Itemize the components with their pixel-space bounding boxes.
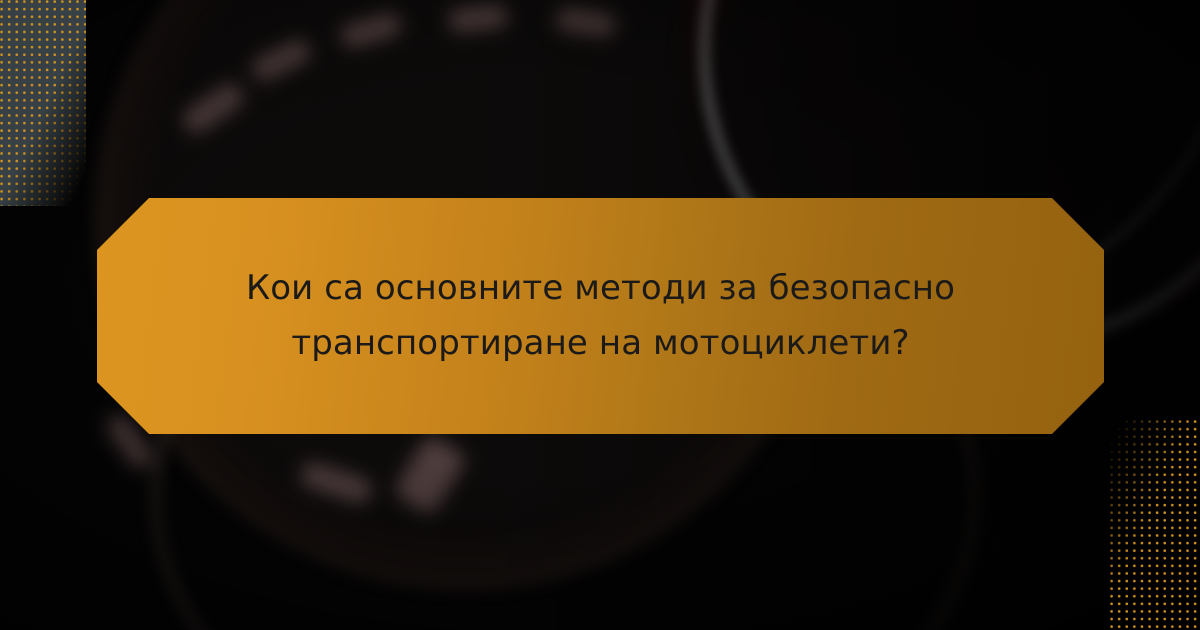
dot-grid-bottom-right-icon — [1110, 420, 1200, 630]
question-text: Кои са основните методи за безопасно тра… — [161, 261, 1041, 371]
dot-grid-top-left-icon — [0, 0, 86, 206]
social-card: Кои са основните методи за безопасно тра… — [0, 0, 1200, 630]
question-banner: Кои са основните методи за безопасно тра… — [97, 198, 1104, 434]
